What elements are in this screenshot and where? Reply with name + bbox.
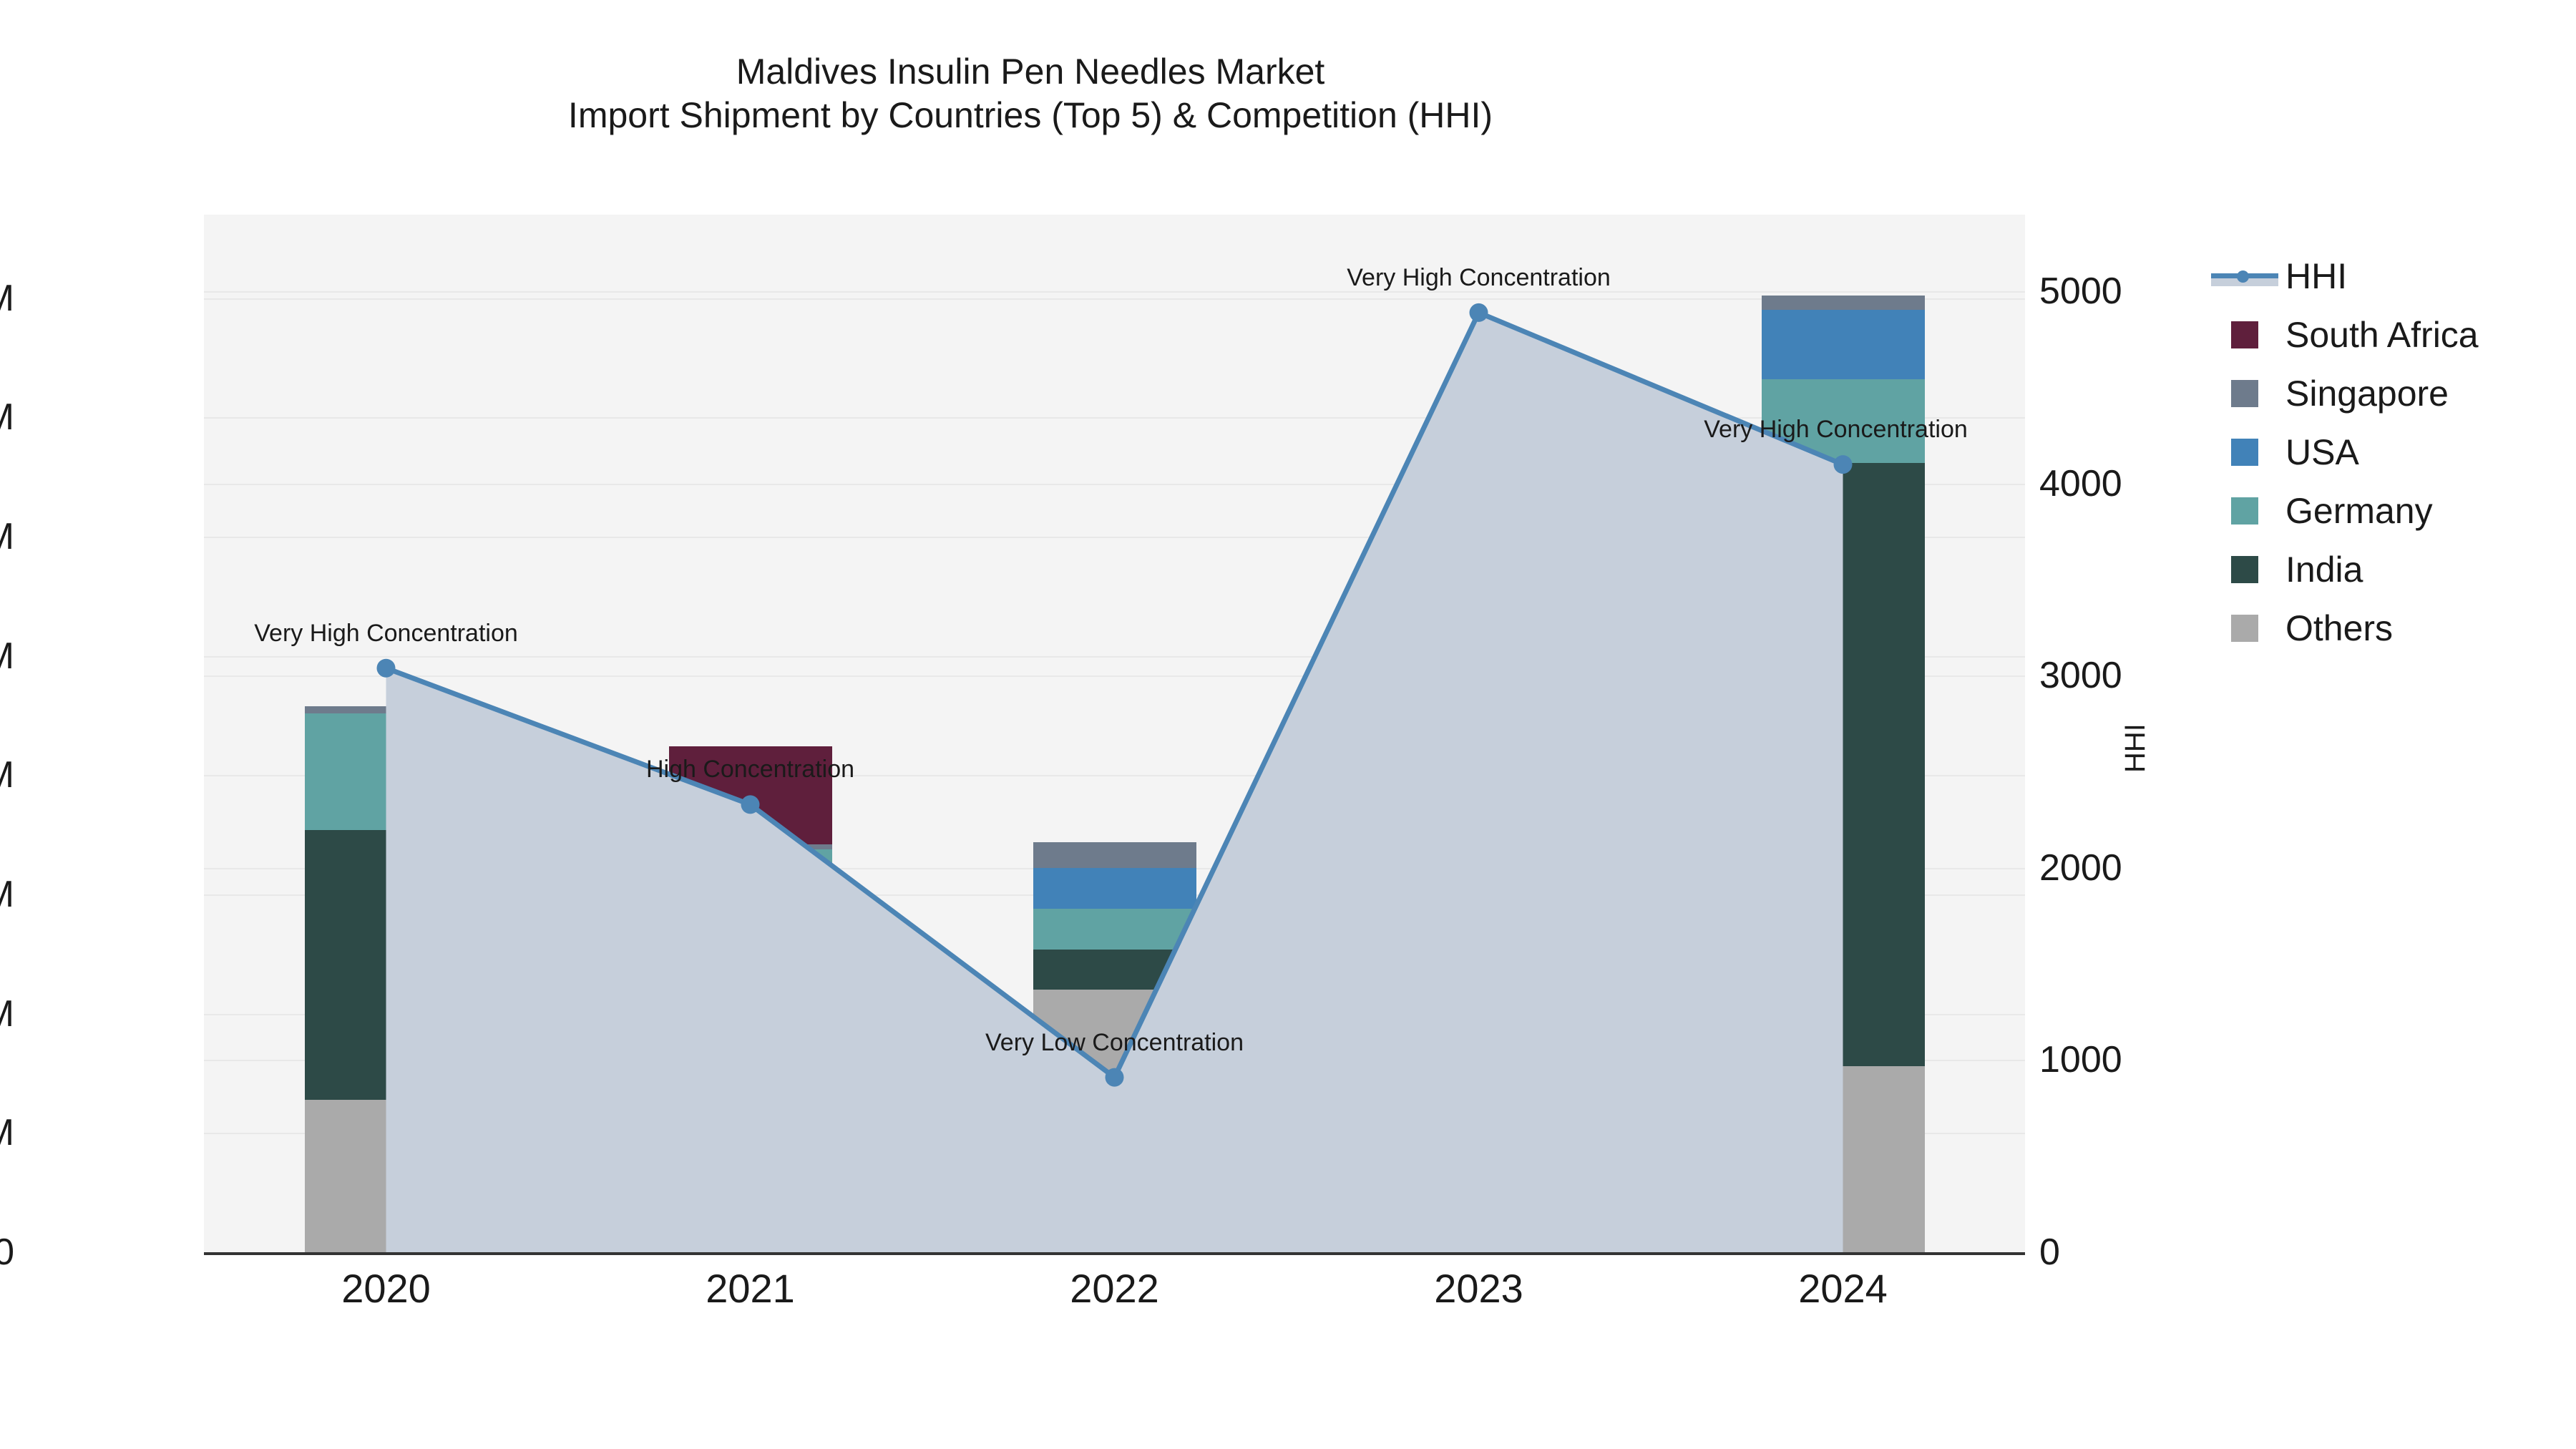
bar-group-2023[interactable] <box>1397 215 1561 1252</box>
x-axis-line <box>204 1252 2025 1255</box>
legend-item-hhi[interactable]: HHI <box>2211 247 2569 306</box>
y-tick-left: 2M <box>0 753 14 796</box>
bar-segment-india[interactable] <box>1397 694 1561 1176</box>
bar-segment-others[interactable] <box>669 1164 832 1252</box>
bar-segment-singapore[interactable] <box>1033 842 1196 869</box>
legend-label: Germany <box>2285 490 2433 532</box>
bar-segment-germany[interactable] <box>1397 553 1561 694</box>
bar-group-2024[interactable] <box>1762 215 1925 1252</box>
legend-item-germany[interactable]: Germany <box>2211 482 2569 540</box>
chart-title-line-1: Maldives Insulin Pen Needles Market <box>0 50 2061 94</box>
legend-swatch-icon <box>2231 439 2258 466</box>
bar-segment-singapore[interactable] <box>305 706 468 713</box>
bar-group-2022[interactable] <box>1033 215 1196 1252</box>
legend-item-india[interactable]: India <box>2211 540 2569 599</box>
bar-segment-india[interactable] <box>305 830 468 1100</box>
chart-title-line-2: Import Shipment by Countries (Top 5) & C… <box>0 94 2061 137</box>
plot-area: Very High ConcentrationHigh Concentratio… <box>204 215 2025 1252</box>
legend-item-south-africa[interactable]: South Africa <box>2211 306 2569 364</box>
bar-segment-usa[interactable] <box>1033 868 1196 909</box>
y-tick-right: 1000 <box>2039 1038 2225 1081</box>
bar-segment-singapore[interactable] <box>669 844 832 849</box>
legend-swatch-icon <box>2231 380 2258 407</box>
legend-swatch-icon <box>2231 321 2258 348</box>
bar-group-2020[interactable] <box>305 215 468 1252</box>
legend-item-usa[interactable]: USA <box>2211 423 2569 482</box>
y-tick-right: 2000 <box>2039 847 2225 889</box>
legend-label: HHI <box>2285 255 2347 297</box>
bar-segment-usa[interactable] <box>1762 310 1925 379</box>
annotation-2023: Very High Concentration <box>1347 264 1611 292</box>
x-tick-2022: 2022 <box>972 1265 1258 1312</box>
bar-segment-india[interactable] <box>1033 950 1196 990</box>
annotation-2021: High Concentration <box>646 756 854 784</box>
hhi-line-icon <box>2211 263 2278 290</box>
legend-label: Others <box>2285 608 2393 649</box>
bar-segment-singapore[interactable] <box>1397 544 1561 553</box>
x-tick-2024: 2024 <box>1700 1265 1986 1312</box>
y-tick-left: 4M <box>0 277 14 320</box>
y-tick-left: 3.5M <box>0 396 14 439</box>
bar-segment-germany[interactable] <box>669 849 832 980</box>
legend-swatch-icon <box>2231 615 2258 642</box>
bar-segment-others[interactable] <box>305 1100 468 1252</box>
legend-swatch-icon <box>2231 556 2258 583</box>
legend-label: Singapore <box>2285 373 2449 414</box>
legend: HHISouth AfricaSingaporeUSAGermanyIndiaO… <box>2211 247 2569 658</box>
y-tick-left: 3M <box>0 515 14 558</box>
legend-label: South Africa <box>2285 314 2479 356</box>
bar-segment-singapore[interactable] <box>1762 296 1925 310</box>
y-tick-left: 1.5M <box>0 873 14 916</box>
x-tick-2021: 2021 <box>608 1265 894 1312</box>
x-tick-2020: 2020 <box>243 1265 530 1312</box>
bar-segment-germany[interactable] <box>1033 909 1196 950</box>
y-tick-right: 5000 <box>2039 270 2225 313</box>
y-axis-right-label: HHI <box>2119 723 2152 773</box>
legend-swatch-icon <box>2231 497 2258 525</box>
y-tick-left: 2.5M <box>0 635 14 678</box>
chart-title: Maldives Insulin Pen Needles Market Impo… <box>0 50 2061 137</box>
bar-group-2021[interactable] <box>669 215 832 1252</box>
y-tick-right: 4000 <box>2039 462 2225 505</box>
bar-segment-india[interactable] <box>669 980 832 1164</box>
y-tick-right: 0 <box>2039 1231 2225 1274</box>
y-tick-right: 3000 <box>2039 654 2225 697</box>
x-tick-2023: 2023 <box>1336 1265 1622 1312</box>
legend-label: USA <box>2285 431 2359 473</box>
y-tick-left: 0.5M <box>0 1111 14 1154</box>
legend-label: India <box>2285 549 2363 590</box>
legend-item-others[interactable]: Others <box>2211 599 2569 658</box>
bar-segment-germany[interactable] <box>305 713 468 830</box>
bar-segment-others[interactable] <box>1762 1066 1925 1252</box>
chart-figure: Maldives Insulin Pen Needles Market Impo… <box>0 0 2576 1449</box>
bar-segment-others[interactable] <box>1397 1176 1561 1252</box>
bar-segment-india[interactable] <box>1762 463 1925 1066</box>
legend-item-singapore[interactable]: Singapore <box>2211 364 2569 423</box>
annotation-2024: Very High Concentration <box>1704 416 1968 444</box>
annotation-2020: Very High Concentration <box>254 620 518 648</box>
y-tick-left: 1M <box>0 992 14 1035</box>
y-tick-left: 0 <box>0 1231 14 1274</box>
annotation-2022: Very Low Concentration <box>985 1029 1244 1057</box>
